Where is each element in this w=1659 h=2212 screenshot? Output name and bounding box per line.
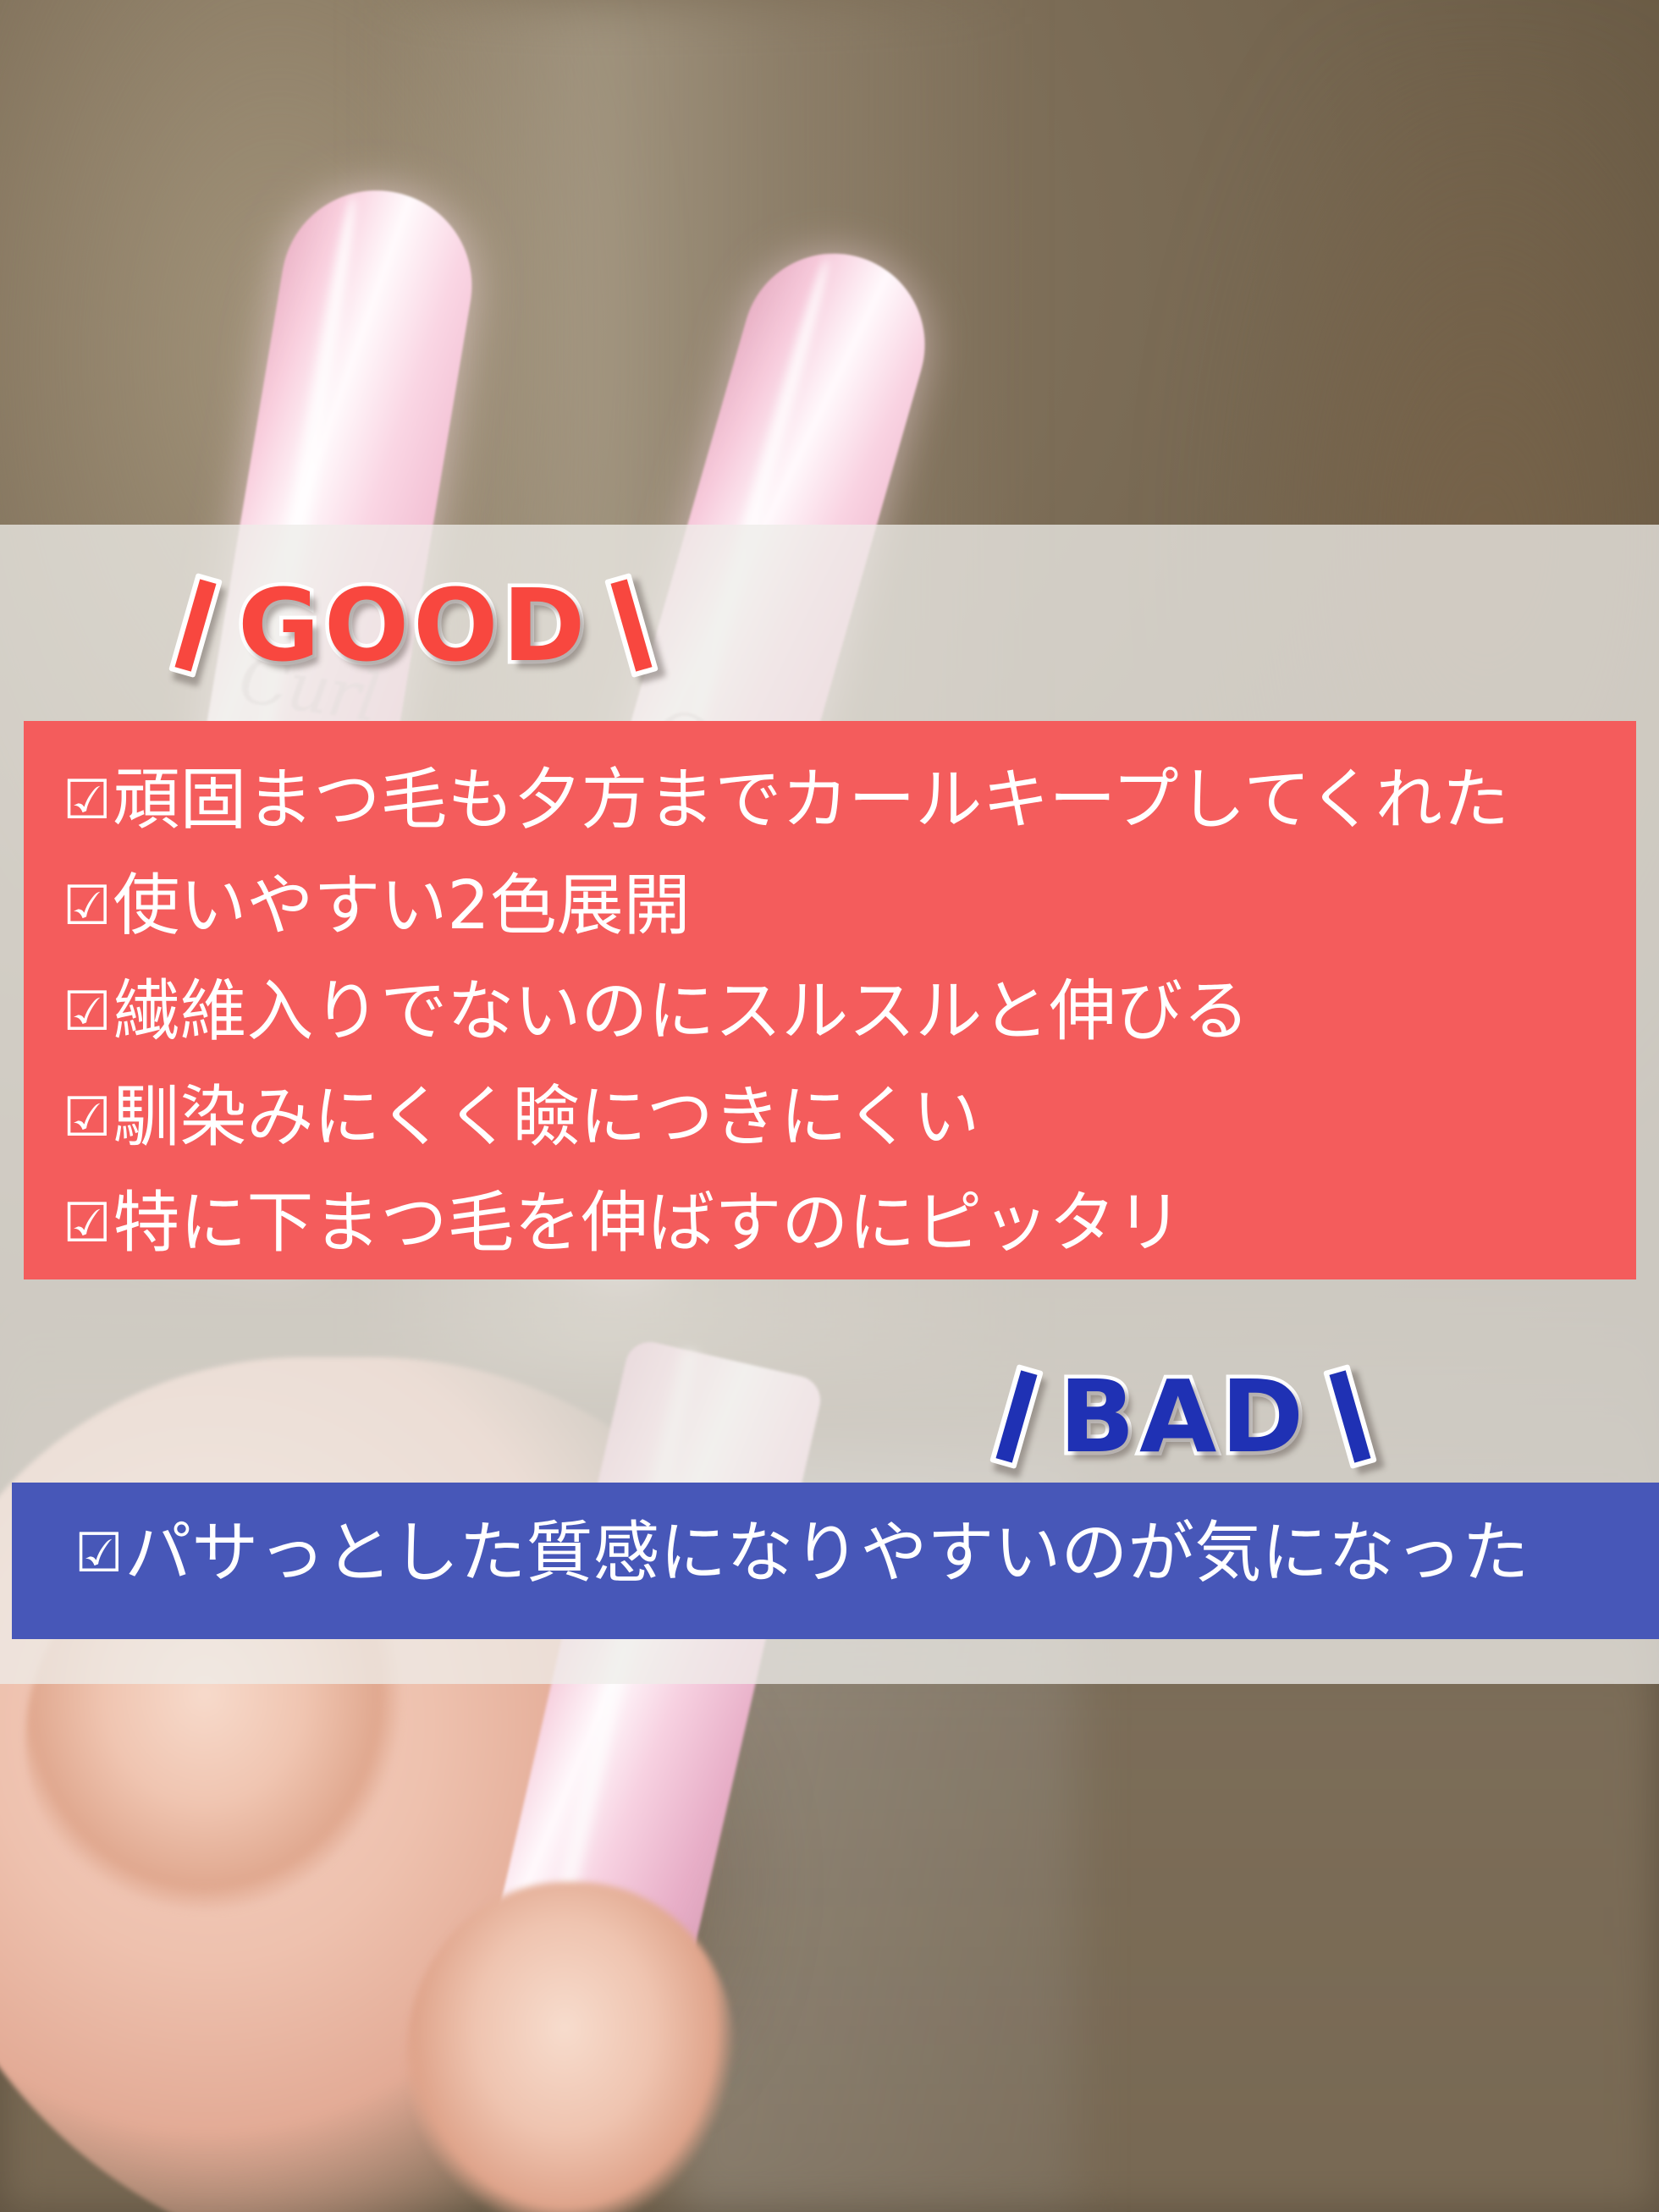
good-heading-label: GOOD: [238, 567, 589, 684]
checkbox-checked-icon: ☑: [63, 769, 111, 832]
good-item-text: 繊維入りでないのにスルスルと伸びる: [113, 972, 1249, 1050]
good-item: ☑馴染みにくく瞼につきにくい: [63, 1067, 1597, 1173]
good-item: ☑特に下まつ毛を伸ばすのにピッタリ: [63, 1173, 1597, 1279]
good-item-text: 頑固まつ毛も夕方までカールキープしてくれた: [113, 761, 1509, 839]
infographic-canvas: Curl fix Curl fix ETUDE GOOD ☑頑固まつ毛も夕方まで…: [0, 0, 1659, 2212]
bad-item-text: パサっとした質感になりやすいのが気になった: [124, 1514, 1529, 1592]
good-item-text: 馴染みにくく瞼につきにくい: [113, 1078, 979, 1156]
good-heading: GOOD: [182, 567, 645, 684]
bad-item: ☑パサっとした質感になりやすいのが気になった: [51, 1503, 1620, 1609]
bad-points-box: ☑パサっとした質感になりやすいのが気になった: [12, 1483, 1659, 1639]
bad-heading: BAD: [1003, 1358, 1364, 1475]
good-item: ☑使いやすい2色展開: [63, 856, 1597, 961]
checkbox-checked-icon: ☑: [74, 1522, 123, 1585]
checkbox-checked-icon: ☑: [63, 875, 111, 938]
good-item: ☑繊維入りでないのにスルスルと伸びる: [63, 961, 1597, 1067]
checkbox-checked-icon: ☑: [63, 1192, 111, 1255]
checkbox-checked-icon: ☑: [63, 981, 111, 1043]
bad-heading-label: BAD: [1059, 1358, 1308, 1475]
good-item-text: 特に下まつ毛を伸ばすのにピッタリ: [113, 1184, 1182, 1262]
finger: [406, 1882, 736, 2212]
checkbox-checked-icon: ☑: [63, 1087, 111, 1149]
good-points-box: ☑頑固まつ毛も夕方までカールキープしてくれた ☑使いやすい2色展開 ☑繊維入りで…: [24, 721, 1636, 1279]
good-item: ☑頑固まつ毛も夕方までカールキープしてくれた: [63, 750, 1597, 856]
good-item-text: 使いやすい2色展開: [113, 867, 690, 944]
